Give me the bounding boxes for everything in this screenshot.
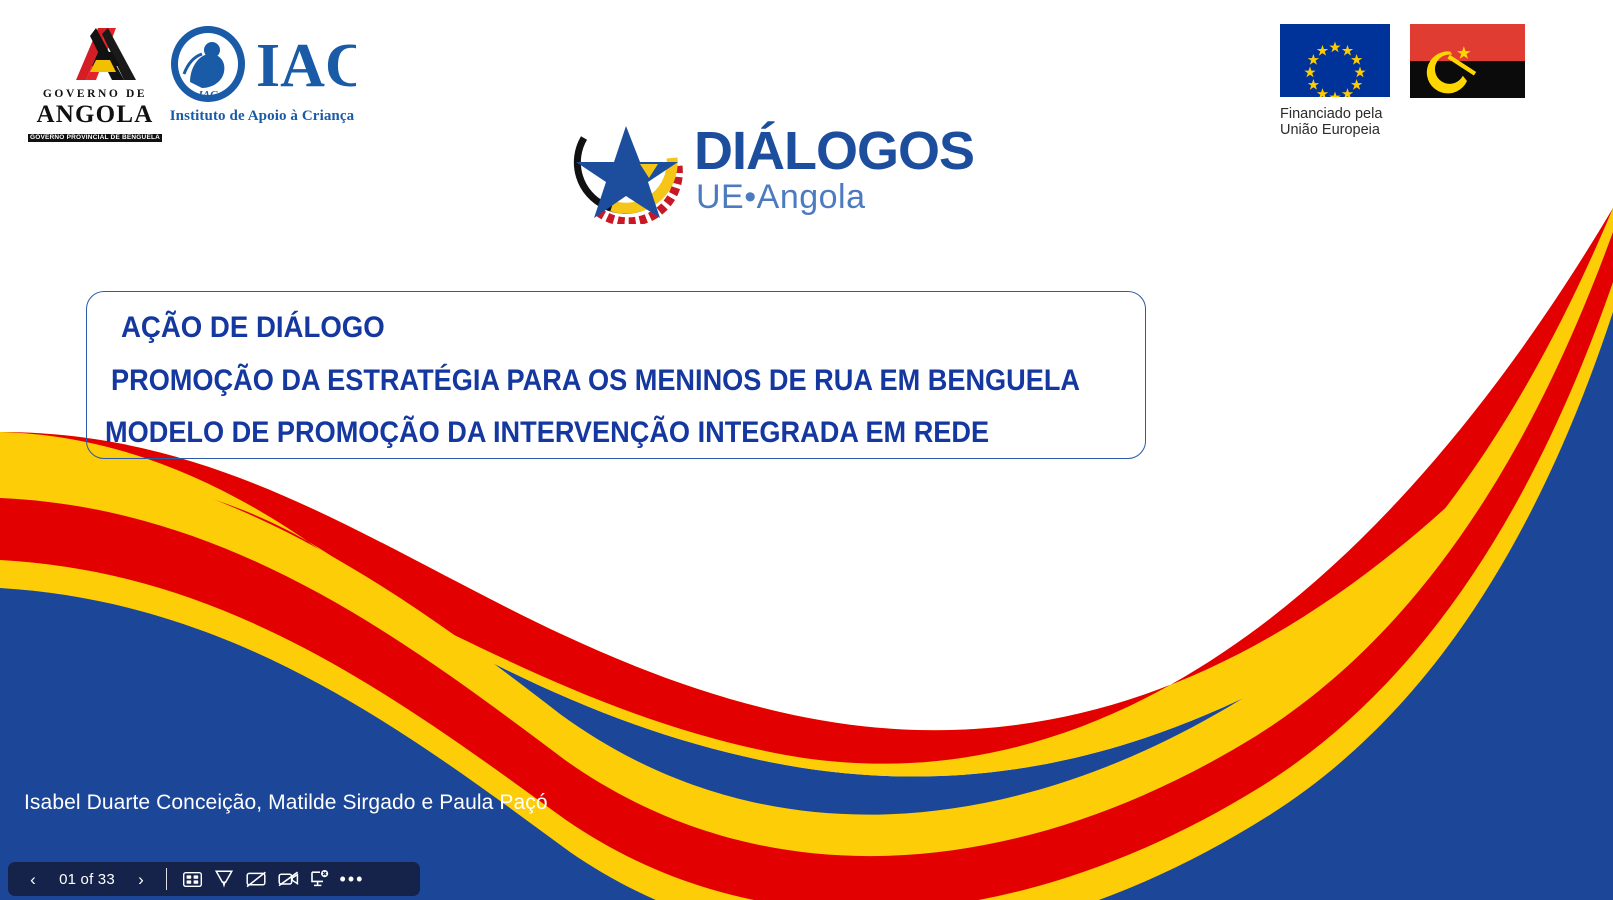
title-line-3: MODELO DE PROMOÇÃO DA INTERVENÇÃO INTEGR… (105, 418, 1045, 449)
camera-off-button[interactable] (273, 865, 303, 893)
slide-title-box: AÇÃO DE DIÁLOGO PROMOÇÃO DA ESTRATÉGIA P… (86, 291, 1146, 459)
dialogos-wordmark: DIÁLOGOS (694, 124, 974, 178)
logo-iac: IAC IAC Instituto de Apoio à Criança (168, 24, 356, 132)
svg-text:IAC: IAC (198, 89, 219, 101)
dialogos-emblem (566, 118, 692, 224)
stop-sharing-slide-button[interactable] (241, 865, 271, 893)
more-options-button[interactable]: ••• (337, 865, 367, 893)
dialogos-subtitle: UE•Angola (696, 180, 866, 214)
camera-off-icon (278, 871, 299, 887)
authors-line: Isabel Duarte Conceição, Matilde Sirgado… (24, 791, 548, 815)
angola-a-mark (24, 22, 166, 82)
title-line-1: AÇÃO DE DIÁLOGO (121, 312, 1047, 344)
logo-dialogos: DIÁLOGOS UE•Angola (566, 118, 966, 228)
toolbar-divider (166, 868, 167, 890)
slide-page-indicator: 01 of 33 (50, 871, 124, 888)
presentation-toolbar[interactable]: ‹ 01 of 33 › (8, 862, 420, 896)
stop-presenting-button[interactable] (305, 865, 335, 893)
angola-flag-icon (1410, 24, 1525, 98)
gov-angola-line2: ANGOLA (24, 102, 166, 127)
eu-funding-block: Financiado pela União Europeia (1280, 24, 1400, 124)
stop-presenting-icon (310, 870, 330, 888)
logo-header: GOVERNO DE ANGOLA GOVERNO PROVINCIAL DE … (0, 0, 1613, 240)
grid-view-icon (183, 872, 202, 887)
gov-angola-line3: GOVERNO PROVINCIAL DE BENGUELA (28, 134, 162, 143)
eu-flag-icon (1280, 24, 1390, 97)
logo-governo-angola: GOVERNO DE ANGOLA GOVERNO PROVINCIAL DE … (24, 22, 166, 132)
highlighter-pen-button[interactable] (209, 865, 239, 893)
title-line-2: PROMOÇÃO DA ESTRATÉGIA PARA OS MENINOS D… (111, 366, 1046, 397)
iac-subtitle: Instituto de Apoio à Criança (168, 108, 356, 125)
presentation-slide: GOVERNO DE ANGOLA GOVERNO PROVINCIAL DE … (0, 0, 1613, 900)
gov-angola-line1: GOVERNO DE (24, 89, 166, 101)
iac-mark: IAC IAC (168, 24, 356, 110)
next-slide-button[interactable]: › (126, 865, 156, 893)
iac-acronym: IAC (256, 32, 356, 100)
more-options-icon: ••• (340, 875, 365, 883)
previous-slide-button[interactable]: ‹ (18, 865, 48, 893)
highlighter-pen-icon (215, 870, 233, 889)
grid-view-button[interactable] (177, 865, 207, 893)
slide-off-icon (246, 871, 267, 888)
eu-funding-caption: Financiado pela União Europeia (1280, 106, 1400, 138)
